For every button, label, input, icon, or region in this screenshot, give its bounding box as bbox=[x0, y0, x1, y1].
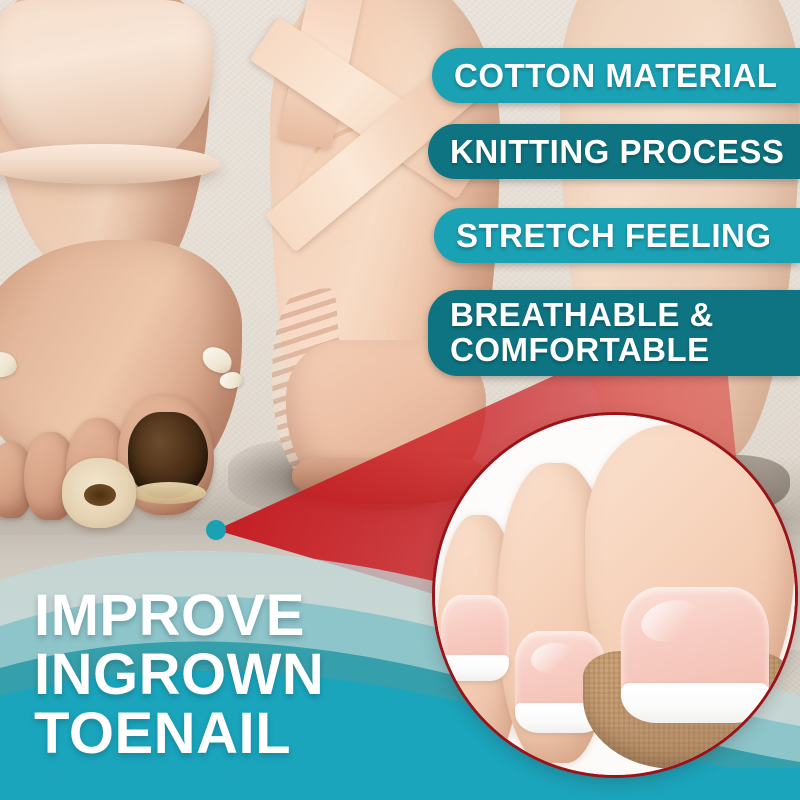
feature-banner-list: COTTON MATERIAL KNITTING PROCESS STRETCH… bbox=[0, 0, 800, 420]
feature-banner-stretch-feeling[interactable]: STRETCH FEELING bbox=[434, 208, 800, 263]
page-title: IMPROVE INGROWN TOENAIL bbox=[34, 586, 434, 763]
nail-tip-third bbox=[441, 655, 509, 681]
advertisement-canvas: COTTON MATERIAL KNITTING PROCESS STRETCH… bbox=[0, 0, 800, 800]
feature-banner-knitting-process[interactable]: KNITTING PROCESS bbox=[428, 124, 800, 179]
feature-banner-label: KNITTING PROCESS bbox=[450, 134, 784, 170]
feature-banner-label: BREATHABLE & COMFORTABLE bbox=[450, 298, 714, 368]
gauze-wrap bbox=[62, 458, 136, 528]
damaged-toenail bbox=[128, 412, 208, 498]
feature-banner-label: COTTON MATERIAL bbox=[454, 58, 777, 94]
feature-banner-label: STRETCH FEELING bbox=[456, 218, 772, 254]
target-dot-icon bbox=[206, 520, 226, 540]
nail-tip-big bbox=[621, 683, 769, 723]
feature-banner-cotton-material[interactable]: COTTON MATERIAL bbox=[432, 48, 800, 103]
feature-banner-breathable-comfortable[interactable]: BREATHABLE & COMFORTABLE bbox=[428, 290, 800, 376]
zoom-inset-photo bbox=[435, 415, 795, 775]
zoom-inset-circle bbox=[435, 415, 795, 775]
